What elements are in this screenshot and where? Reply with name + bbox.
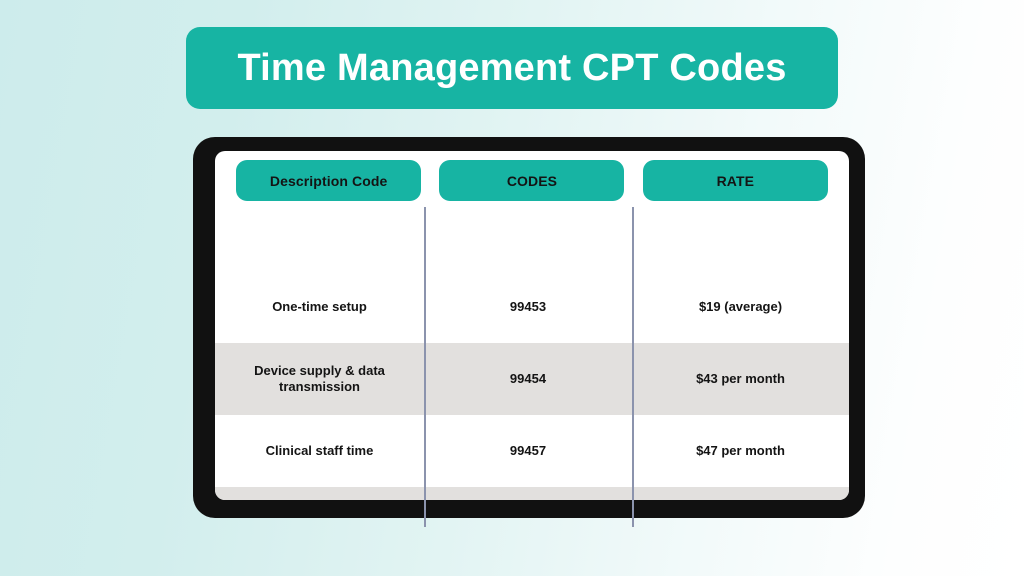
header-label-description-code: Description Code <box>270 173 388 189</box>
column-divider-2 <box>632 207 634 500</box>
table-header-cell-codes: CODES <box>430 160 633 201</box>
table-header-cell-rate: RATE <box>634 160 837 201</box>
page-title: Time Management CPT Codes <box>237 49 786 87</box>
table-spacer-row <box>215 224 849 271</box>
header-label-codes: CODES <box>507 173 557 189</box>
table-row: One-time setup 99453 $19 (average) <box>215 271 849 343</box>
column-divider-2-tail <box>632 500 634 527</box>
header-pill-rate: RATE <box>643 160 828 201</box>
cell-code: 99457 <box>424 443 632 459</box>
cell-rate: $47 per month <box>632 443 849 459</box>
cell-description: Clinical staff time <box>215 443 424 459</box>
cell-code: 99454 <box>424 371 632 387</box>
cell-description: One-time setup <box>215 299 424 315</box>
table-body: One-time setup 99453 $19 (average) Devic… <box>215 224 849 500</box>
header-label-rate: RATE <box>717 173 754 189</box>
column-divider-1 <box>424 207 426 500</box>
table-device-frame: Description Code CODES RATE One-time set… <box>193 137 865 518</box>
table-row: Clinical staff time 99457 $47 per month <box>215 415 849 487</box>
table-row: Optional extra time 99458 $38 per month … <box>215 487 849 500</box>
page-title-banner: Time Management CPT Codes <box>186 27 838 109</box>
table-screen: Description Code CODES RATE One-time set… <box>215 151 849 500</box>
cell-code: 99453 <box>424 299 632 315</box>
cell-rate: $19 (average) <box>632 299 849 315</box>
header-pill-description-code: Description Code <box>236 160 421 201</box>
column-divider-1-tail <box>424 500 426 527</box>
table-header-row: Description Code CODES RATE <box>215 151 849 201</box>
cell-rate: $43 per month <box>632 371 849 387</box>
cell-description: Device supply & data transmission <box>215 363 424 396</box>
table-header-cell-description: Description Code <box>227 160 430 201</box>
table-row: Device supply & data transmission 99454 … <box>215 343 849 415</box>
header-pill-codes: CODES <box>439 160 624 201</box>
